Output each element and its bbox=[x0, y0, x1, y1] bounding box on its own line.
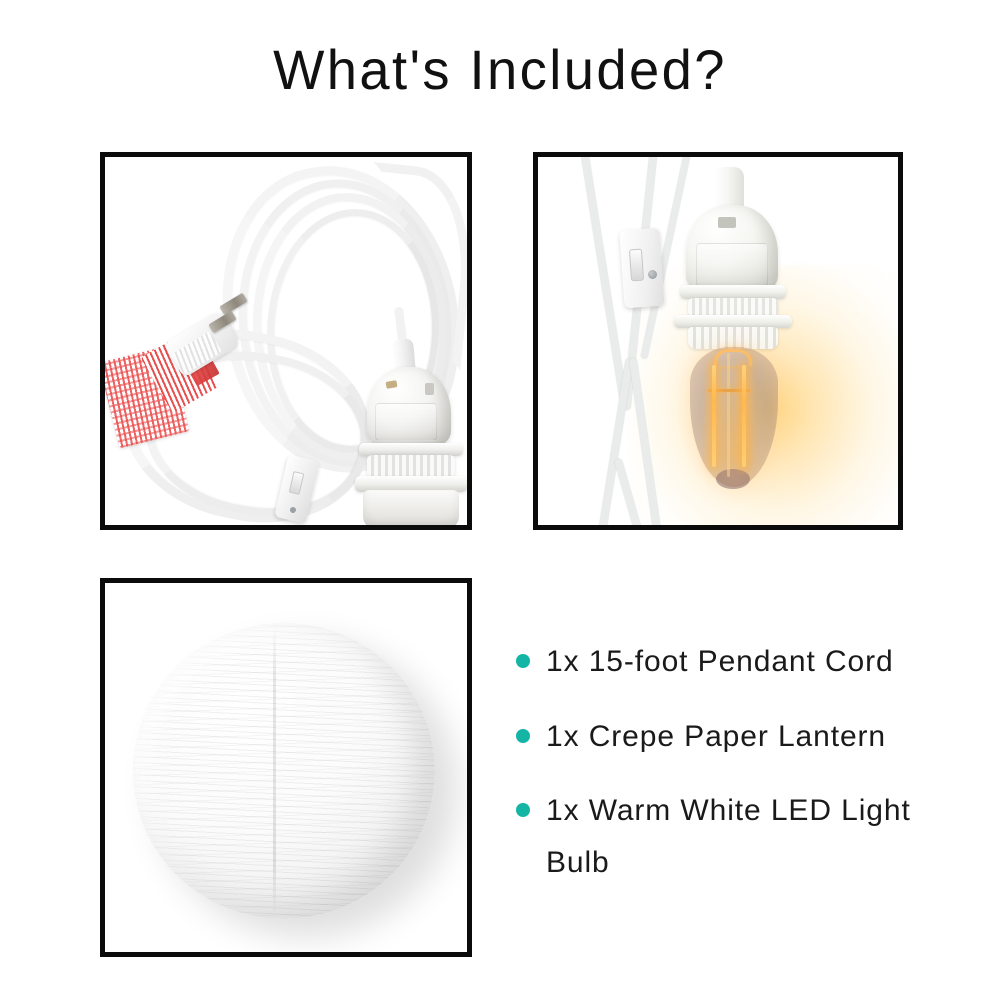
socket-ring-icon bbox=[367, 455, 455, 477]
list-item: 1x Warm White LED Light Bulb bbox=[512, 785, 932, 888]
bulb-filament-icon bbox=[712, 365, 716, 467]
socket-ring-icon bbox=[688, 327, 778, 349]
socket-skirt-icon bbox=[363, 490, 459, 525]
bullet-dot-icon bbox=[516, 729, 530, 743]
list-item-label: 1x Crepe Paper Lantern bbox=[546, 720, 886, 753]
socket-slot-icon bbox=[718, 217, 736, 228]
photo-paper-lantern bbox=[105, 583, 467, 952]
cord-segment-icon bbox=[353, 162, 467, 370]
list-item: 1x Crepe Paper Lantern bbox=[512, 711, 932, 763]
included-items-list: 1x 15-foot Pendant Cord 1x Crepe Paper L… bbox=[512, 636, 932, 888]
socket-ring-icon bbox=[688, 298, 778, 316]
socket-panel-icon bbox=[696, 243, 768, 287]
photo-frame-pendant-cord bbox=[100, 152, 472, 530]
photo-frame-lit-bulb bbox=[533, 152, 903, 530]
switch-rocker-icon bbox=[629, 249, 644, 282]
bulb-filament-icon bbox=[742, 365, 746, 467]
list-item-label: 1x 15-foot Pendant Cord bbox=[546, 645, 894, 678]
bulb-filament-icon bbox=[727, 353, 730, 477]
list-item-label: 1x Warm White LED Light Bulb bbox=[546, 794, 911, 879]
photo-pendant-cord bbox=[105, 157, 467, 525]
page-title: What's Included? bbox=[15, 42, 985, 98]
socket-panel-icon bbox=[375, 403, 437, 441]
socket-ring-icon bbox=[680, 285, 786, 299]
bulb-tip-icon bbox=[716, 469, 750, 489]
lantern-seam-icon bbox=[273, 627, 276, 915]
bulb-filament-icon bbox=[714, 349, 752, 366]
list-item: 1x 15-foot Pendant Cord bbox=[512, 636, 932, 688]
cord-wire-icon bbox=[580, 157, 627, 400]
paper-lantern-icon bbox=[133, 623, 435, 919]
switch-screw-icon bbox=[648, 270, 657, 279]
photo-frame-paper-lantern bbox=[100, 578, 472, 957]
socket-notch-icon bbox=[425, 383, 434, 395]
bullet-dot-icon bbox=[516, 654, 530, 668]
bullet-dot-icon bbox=[516, 803, 530, 817]
photo-lit-bulb bbox=[538, 157, 898, 525]
